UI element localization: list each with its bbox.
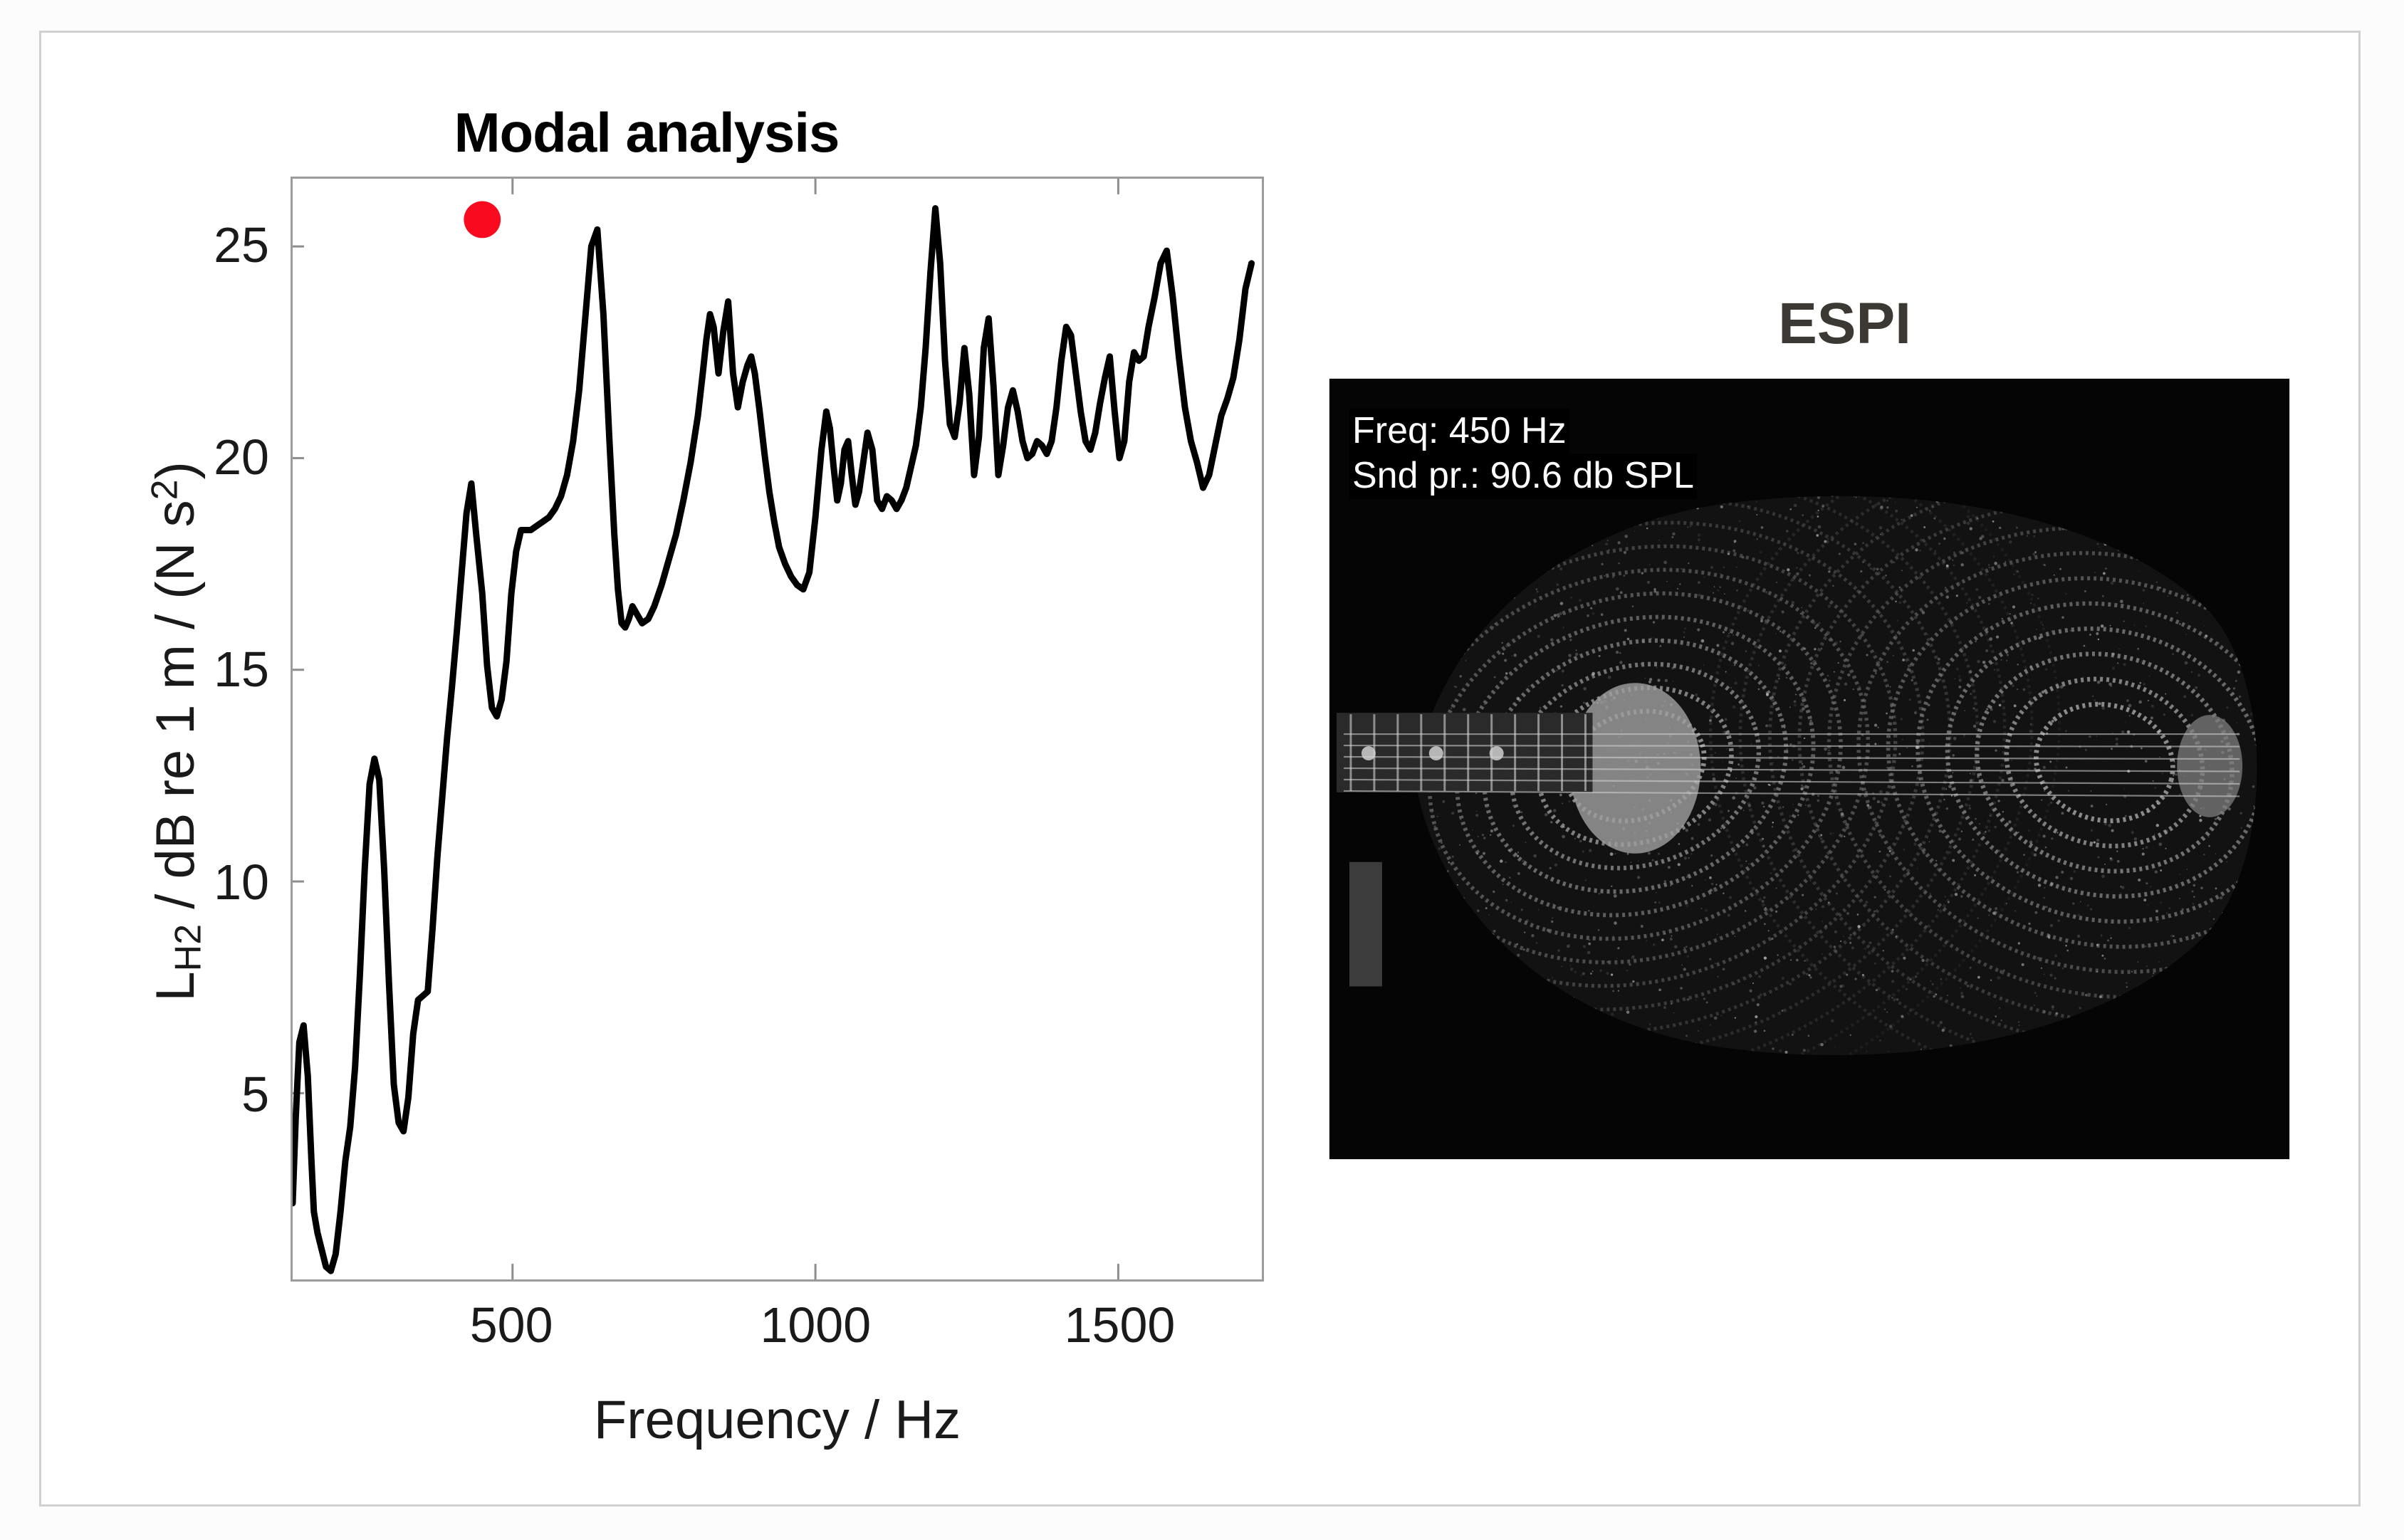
x-axis-label: Frequency / Hz <box>291 1389 1264 1451</box>
y-axis-rest-b: ) <box>145 461 206 479</box>
y-axis-subscript: H2 <box>167 924 209 971</box>
espi-overlay-text: Freq: 450 Hz Snd pr.: 90.6 db SPL <box>1349 409 1697 499</box>
modal-analysis-chart-panel: Modal analysis 510152025 50010001500 Fre… <box>41 33 1359 1509</box>
frequency-response-curve <box>293 209 1252 1271</box>
espi-interferogram-image: Freq: 450 Hz Snd pr.: 90.6 db SPL <box>1329 378 2290 1160</box>
espi-sound-pressure-text: Snd pr.: 90.6 db SPL <box>1349 454 1697 498</box>
plot-line-svg <box>293 179 1262 1279</box>
chart-title: Modal analysis <box>291 100 1003 165</box>
espi-freq-text: Freq: 450 Hz <box>1349 409 1569 454</box>
x-tick-label: 1000 <box>709 1297 922 1353</box>
y-axis-symbol: L <box>145 971 206 1001</box>
x-tick-label: 500 <box>404 1297 618 1353</box>
x-tick-label: 1500 <box>1013 1297 1227 1353</box>
y-axis-rest-a: / dB re 1 m / (N s <box>145 500 206 923</box>
espi-panel: ESPI Freq: 450 Hz Snd pr.: 90.6 db SPL <box>1327 33 2363 1509</box>
peak-marker <box>464 201 501 239</box>
espi-title: ESPI <box>1327 290 2363 357</box>
plot-axes <box>291 177 1264 1282</box>
y-axis-superscript: 2 <box>145 479 186 500</box>
y-axis-label: LH2 / dB re 1 m / (N s2) <box>144 179 210 1283</box>
figure-frame: Modal analysis 510152025 50010001500 Fre… <box>39 31 2361 1507</box>
